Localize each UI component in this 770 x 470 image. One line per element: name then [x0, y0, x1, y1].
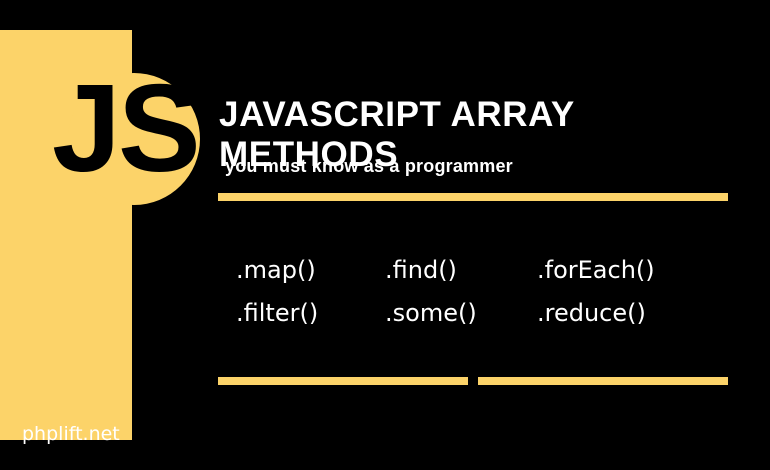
list-item: .filter() [236, 299, 385, 327]
divider-top [218, 193, 728, 201]
list-item: .find() [385, 256, 537, 284]
divider-bottom-left [218, 377, 468, 385]
site-watermark: phplift.net [22, 423, 120, 445]
list-item: .map() [236, 256, 385, 284]
divider-bottom-right [478, 377, 728, 385]
page-subtitle: you must know as a programmer [225, 156, 513, 177]
js-logo-text: JS [52, 70, 202, 190]
list-item: .forEach() [537, 256, 696, 284]
list-item: .some() [385, 299, 537, 327]
poster-canvas: JS phplift.net JAVASCRIPT ARRAY METHODS … [0, 0, 770, 470]
list-item: .reduce() [537, 299, 696, 327]
method-list: .map() .find() .forEach() .filter() .som… [236, 248, 696, 334]
